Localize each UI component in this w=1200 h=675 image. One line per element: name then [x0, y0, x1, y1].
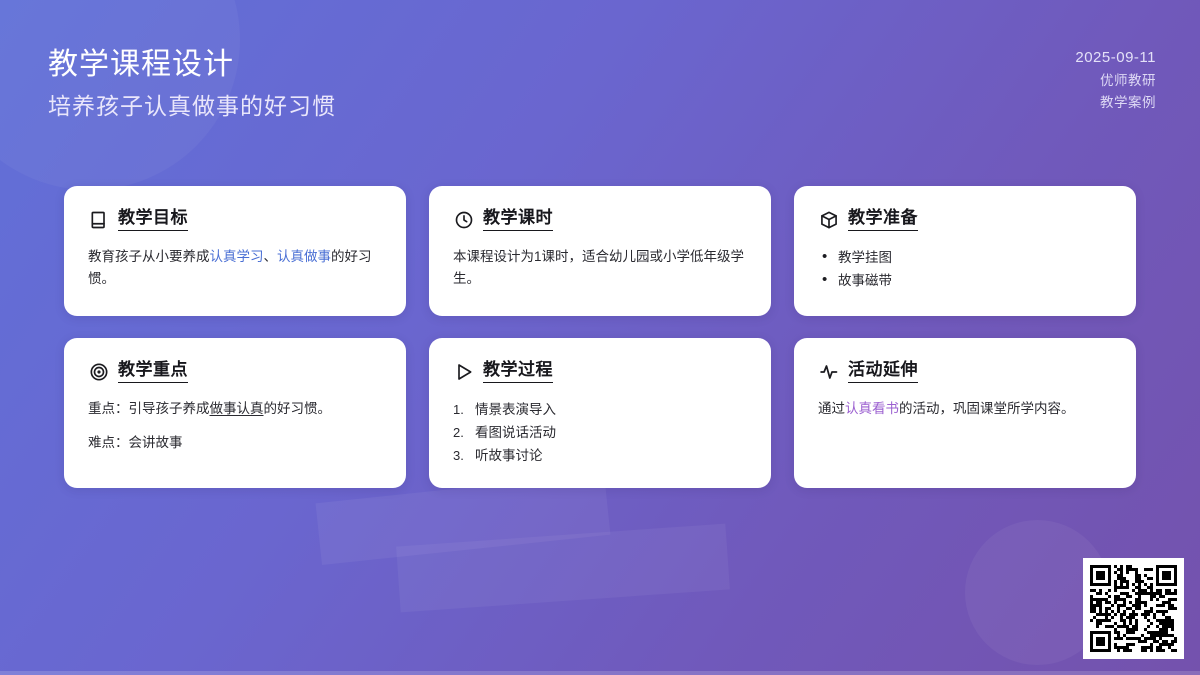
- body-text: 通过: [818, 401, 845, 416]
- highlighted-text: 认真做事: [277, 249, 331, 264]
- card-title: 教学准备: [848, 208, 918, 231]
- list-item: 听故事讨论: [453, 444, 747, 467]
- card-paragraph: 本课程设计为1课时，适合幼儿园或小学低年级学生。: [453, 246, 747, 290]
- card-body: 本课程设计为1课时，适合幼儿园或小学低年级学生。: [453, 246, 747, 290]
- header-meta-block: 2025-09-11 优师教研 教学案例: [1075, 46, 1156, 114]
- bullet-list: 教学挂图故事磁带: [818, 246, 1112, 292]
- card-body: 情景表演导入看图说话活动听故事讨论: [453, 398, 747, 467]
- card-paragraph: 教育孩子从小要养成认真学习、认真做事的好习惯。: [88, 246, 382, 290]
- card-body: 教学挂图故事磁带: [818, 246, 1112, 292]
- card-header: 教学过程: [453, 360, 747, 383]
- target-icon: [88, 361, 109, 382]
- card-4[interactable]: 教学重点重点：引导孩子养成做事认真的好习惯。难点：会讲故事: [64, 338, 406, 488]
- card-paragraph: 通过认真看书的活动，巩固课堂所学内容。: [818, 398, 1112, 420]
- card-3[interactable]: 教学准备教学挂图故事磁带: [794, 186, 1136, 316]
- card-header: 教学重点: [88, 360, 382, 383]
- card-2[interactable]: 教学课时本课程设计为1课时，适合幼儿园或小学低年级学生。: [429, 186, 771, 316]
- list-item: 情景表演导入: [453, 398, 747, 421]
- card-header: 教学准备: [818, 208, 1112, 231]
- page-title: 教学课程设计: [48, 45, 336, 85]
- meta-date: 2025-09-11: [1075, 46, 1156, 70]
- card-body: 教育孩子从小要养成认真学习、认真做事的好习惯。: [88, 246, 382, 290]
- list-item: 教学挂图: [818, 246, 1112, 269]
- clock-icon: [453, 209, 474, 230]
- meta-category: 教学案例: [1075, 92, 1156, 114]
- card-title: 教学目标: [118, 208, 188, 231]
- card-header: 活动延伸: [818, 360, 1112, 383]
- decor-rect-lower: [396, 524, 730, 613]
- package-icon: [818, 209, 839, 230]
- highlighted-text: 认真学习: [210, 249, 264, 264]
- activity-icon: [818, 361, 839, 382]
- card-title: 教学重点: [118, 360, 188, 383]
- card-title: 教学课时: [483, 208, 553, 231]
- card-title: 教学过程: [483, 360, 553, 383]
- body-text: 的活动，巩固课堂所学内容。: [899, 401, 1075, 416]
- card-body: 重点：引导孩子养成做事认真的好习惯。难点：会讲故事: [88, 398, 382, 454]
- body-text: 重点：引导孩子养成: [88, 401, 210, 416]
- card-paragraph: 重点：引导孩子养成做事认真的好习惯。: [88, 398, 382, 420]
- card-1[interactable]: 教学目标教育孩子从小要养成认真学习、认真做事的好习惯。: [64, 186, 406, 316]
- highlighted-text: 认真看书: [845, 401, 899, 416]
- card-body: 通过认真看书的活动，巩固课堂所学内容。: [818, 398, 1112, 420]
- book-icon: [88, 209, 109, 230]
- card-6[interactable]: 活动延伸通过认真看书的活动，巩固课堂所学内容。: [794, 338, 1136, 488]
- card-title: 活动延伸: [848, 360, 918, 383]
- card-paragraph: 难点：会讲故事: [88, 432, 382, 454]
- body-text: 难点：会讲故事: [88, 435, 183, 450]
- page-subtitle: 培养孩子认真做事的好习惯: [48, 89, 336, 123]
- slide-header: 教学课程设计 培养孩子认真做事的好习惯 2025-09-11 优师教研 教学案例: [0, 0, 1200, 160]
- meta-organization: 优师教研: [1075, 70, 1156, 92]
- body-text: 教育孩子从小要养成: [88, 249, 210, 264]
- list-item: 看图说话活动: [453, 421, 747, 444]
- header-title-block: 教学课程设计 培养孩子认真做事的好习惯: [48, 45, 336, 123]
- slide-root: 教学课程设计 培养孩子认真做事的好习惯 2025-09-11 优师教研 教学案例…: [0, 0, 1200, 675]
- body-text: 本课程设计为1课时，适合幼儿园或小学低年级学生。: [453, 249, 744, 286]
- decor-bottom-strip: [0, 671, 1200, 675]
- highlighted-text: 做事认真: [210, 401, 264, 416]
- card-header: 教学课时: [453, 208, 747, 231]
- card-5[interactable]: 教学过程情景表演导入看图说话活动听故事讨论: [429, 338, 771, 488]
- qr-code[interactable]: [1083, 558, 1184, 659]
- play-icon: [453, 361, 474, 382]
- card-grid: 教学目标教育孩子从小要养成认真学习、认真做事的好习惯。教学课时本课程设计为1课时…: [64, 186, 1136, 488]
- body-text: 的好习惯。: [264, 401, 332, 416]
- qr-code-image: [1090, 565, 1177, 652]
- list-item: 故事磁带: [818, 269, 1112, 292]
- card-header: 教学目标: [88, 208, 382, 231]
- ordered-step-list: 情景表演导入看图说话活动听故事讨论: [453, 398, 747, 467]
- body-text: 、: [264, 249, 278, 264]
